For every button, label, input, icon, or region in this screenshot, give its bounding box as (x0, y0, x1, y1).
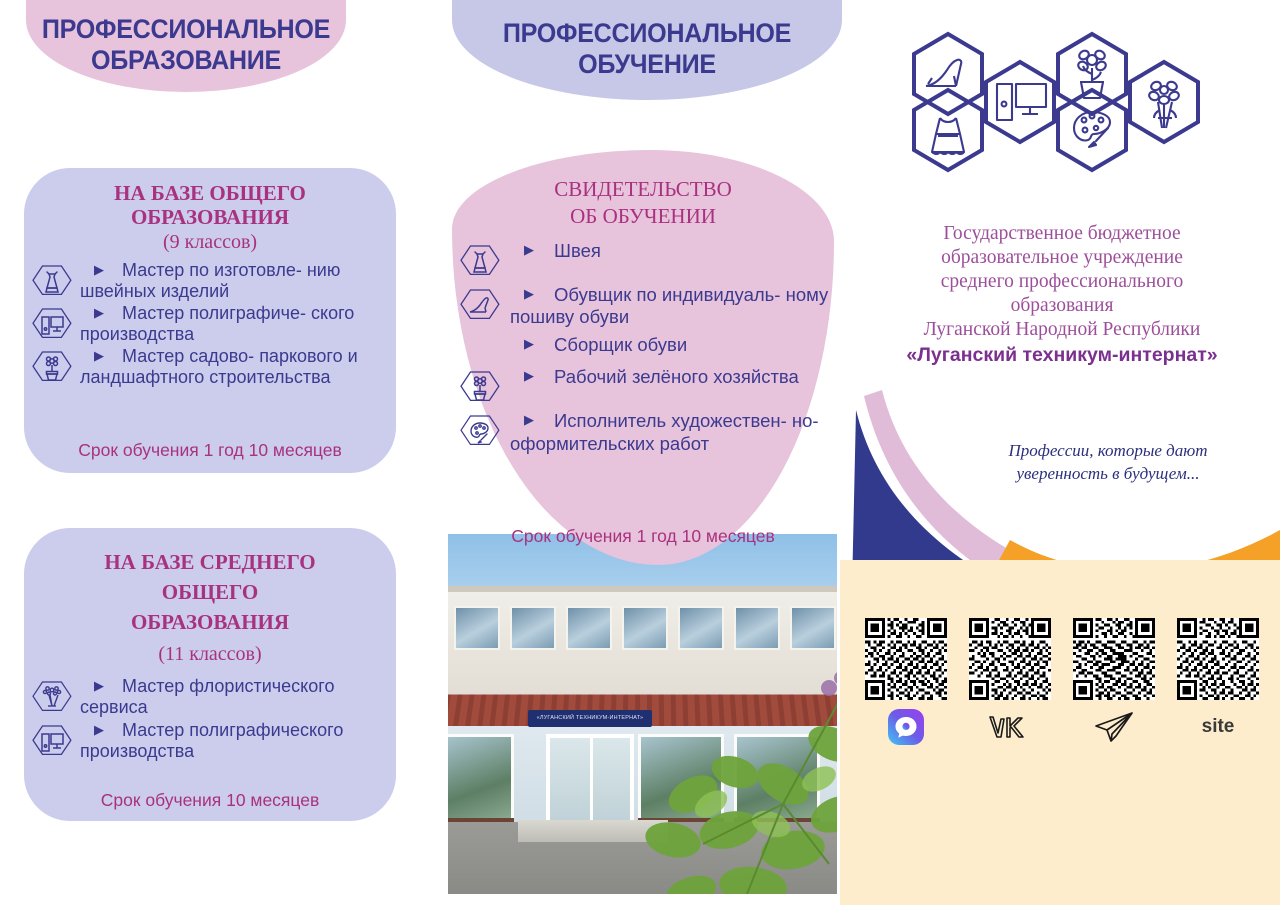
qr-label-vk (966, 706, 1054, 748)
qr-code-sferum[interactable] (865, 618, 947, 700)
certificate-duration: Срок обучения 1 год 10 месяцев (452, 526, 834, 547)
list-item-text: Сборщик обуви (510, 334, 687, 355)
computer-icon (30, 303, 74, 347)
qr-code-vk[interactable] (969, 618, 1051, 700)
dress-hexagon (914, 90, 982, 170)
palette-icon (458, 410, 502, 454)
list-item-text: Исполнитель художествен- но-оформительск… (510, 410, 819, 453)
program-line1: Мастер садово- (122, 346, 254, 366)
bullet-icon: ▶ (94, 262, 104, 277)
program-line1: Мастер (122, 720, 184, 740)
list-item: ▶ Мастер полиграфиче- ского производства (24, 303, 396, 345)
header-middle-line1: ПРОФЕССИОНАЛЬНОЕ (466, 18, 829, 49)
hexagon-icon-cluster (892, 6, 1280, 186)
sferum-icon (888, 709, 924, 745)
header-professional-training: ПРОФЕССИОНАЛЬНОЕ ОБУЧЕНИЕ (452, 0, 842, 100)
dress-icon (30, 260, 74, 304)
site-text: site (1202, 716, 1235, 738)
header-professional-education: ПРОФЕССИОНАЛЬНОЕ ОБРАЗОВАНИЕ (26, 0, 346, 92)
card-secondary-title-line3: ОБРАЗОВАНИЯ (24, 608, 396, 638)
bullet-icon: ▶ (524, 336, 534, 352)
program-line3: строительства (209, 367, 330, 387)
program-line2: флористического сервиса (80, 676, 334, 717)
computer-icon (30, 720, 74, 764)
column-professional-education: ПРОФЕССИОНАЛЬНОЕ ОБРАЗОВАНИЕ НА БАЗЕ ОБЩ… (0, 0, 440, 905)
bullet-icon: ▶ (524, 368, 534, 384)
list-item: ▶ Швея (452, 240, 834, 278)
building-photo: «ЛУГАНСКИЙ ТЕХНИКУМ-ИНТЕРНАТ» (448, 534, 837, 894)
header-left-line2: ОБРАЗОВАНИЕ (37, 45, 335, 76)
qr-label-sferum (862, 706, 950, 748)
program-line1: Швея (554, 240, 601, 261)
list-item: ▶ Рабочий зелёного хозяйства (452, 366, 834, 404)
qr-cell-vk[interactable] (966, 618, 1054, 748)
bullet-icon: ▶ (94, 722, 104, 737)
list-item-text: Обувщик по индивидуаль- ному пошиву обув… (510, 284, 828, 327)
flowerpot-icon (30, 346, 74, 390)
list-item-text: Мастер полиграфиче- ского производства (80, 303, 396, 345)
header-left-line1: ПРОФЕССИОНАЛЬНОЕ (37, 14, 335, 45)
card-secondary-title-line1: НА БАЗЕ СРЕДНЕГО (24, 548, 396, 578)
list-item: ▶ Обувщик по индивидуаль- ному пошиву об… (452, 284, 834, 328)
card-secondary-duration: Срок обучения 10 месяцев (24, 790, 396, 811)
list-item: ▶ Мастер по изготовле- нию швейных издел… (24, 260, 396, 302)
dress-icon (458, 240, 502, 284)
bullet-icon: ▶ (94, 348, 104, 363)
list-item: ▶ Исполнитель художествен- но-оформитель… (452, 410, 834, 454)
telegram-icon (1092, 710, 1136, 744)
column-organization-info: Государственное бюджетное образовательно… (840, 0, 1280, 905)
header-title-middle: ПРОФЕССИОНАЛЬНОЕ ОБУЧЕНИЕ (466, 18, 829, 81)
card-general-subtitle: (9 классов) (24, 231, 396, 254)
list-item: ▶ Мастер полиграфического производства (24, 720, 396, 762)
bullet-icon: ▶ (524, 286, 534, 302)
qr-code-row: site (862, 618, 1262, 748)
org-line2: образовательное учреждение (852, 246, 1272, 270)
program-line1: Исполнитель художествен- (554, 410, 787, 431)
card-general-education: НА БАЗЕ ОБЩЕГО ОБРАЗОВАНИЯ (9 классов) ▶ (24, 168, 396, 473)
qr-label-site: site (1174, 706, 1262, 748)
certificate-program-list: ▶ Швея ▶ Обувщик по и (452, 240, 834, 461)
qr-cell-site[interactable]: site (1174, 618, 1262, 748)
list-item: ▶ Мастер садово- паркового и ландшафтног… (24, 346, 396, 388)
certificate-title-line2: ОБ ОБУЧЕНИИ (452, 203, 834, 230)
program-line1: Сборщик обуви (554, 334, 687, 355)
list-item-text: Мастер садово- паркового и ландшафтного … (80, 346, 396, 388)
card-general-title-line1: НА БАЗЕ ОБЩЕГО (24, 182, 396, 206)
header-middle-line2: ОБУЧЕНИЕ (466, 49, 829, 80)
card-secondary-program-list: ▶ Мастер флористического сервиса (24, 676, 396, 761)
palette-hexagon (1058, 90, 1126, 170)
program-line1: Мастер полиграфиче- (122, 303, 306, 323)
card-certificate-training: СВИДЕТЕЛЬСТВО ОБ ОБУЧЕНИИ ▶ Швея (452, 150, 834, 565)
card-general-duration: Срок обучения 1 год 10 месяцев (24, 440, 396, 461)
brochure-page: ПРОФЕССИОНАЛЬНОЕ ОБРАЗОВАНИЕ НА БАЗЕ ОБЩ… (0, 0, 1280, 905)
program-line2: полиграфического (189, 720, 343, 740)
qr-code-site[interactable] (1177, 618, 1259, 700)
org-institution-name: «Луганский техникум-интернат» (852, 344, 1272, 368)
card-secondary-subtitle: (11 классов) (24, 643, 396, 666)
card-general-title-line2: ОБРАЗОВАНИЯ (24, 206, 396, 230)
org-line5: Луганской Народной Республики (852, 318, 1272, 342)
qr-cell-telegram[interactable] (1070, 618, 1158, 748)
bullet-icon: ▶ (94, 678, 104, 693)
list-item-text: Рабочий зелёного хозяйства (510, 366, 799, 387)
program-line1: Рабочий зелёного (554, 366, 708, 387)
bullet-icon: ▶ (94, 305, 104, 320)
list-item: ▶ Мастер флористического сервиса (24, 676, 396, 718)
certificate-title-line1: СВИДЕТЕЛЬСТВО (452, 176, 834, 203)
org-line3: среднего профессионального (852, 270, 1272, 294)
photo-foliage (633, 654, 837, 894)
card-secondary-education: НА БАЗЕ СРЕДНЕГО ОБЩЕГО ОБРАЗОВАНИЯ (11 … (24, 528, 396, 821)
vk-icon (987, 712, 1033, 742)
slogan: Профессии, которые дают уверенность в бу… (958, 440, 1258, 486)
card-general-program-list: ▶ Мастер по изготовле- нию швейных издел… (24, 260, 396, 388)
qr-label-telegram (1070, 706, 1158, 748)
list-item-text: Мастер флористического сервиса (80, 676, 396, 718)
header-title-left: ПРОФЕССИОНАЛЬНОЕ ОБРАЗОВАНИЕ (37, 14, 335, 77)
org-line1: Государственное бюджетное (852, 222, 1272, 246)
list-item: ▶ Сборщик обуви (452, 334, 834, 360)
shoe-icon (458, 284, 502, 328)
qr-cell-sferum[interactable] (862, 618, 950, 748)
program-line2: хозяйства (713, 366, 799, 387)
organization-name: Государственное бюджетное образовательно… (852, 222, 1272, 368)
slogan-line1: Профессии, которые дают (958, 440, 1258, 463)
program-line1: Мастер (122, 676, 184, 696)
bouquet-hexagon (1130, 62, 1198, 142)
card-secondary-title: НА БАЗЕ СРЕДНЕГО ОБЩЕГО ОБРАЗОВАНИЯ (24, 528, 396, 637)
card-secondary-title-line2: ОБЩЕГО (24, 578, 396, 608)
flowerpot-icon (458, 366, 502, 410)
list-item-text: Мастер полиграфического производства (80, 720, 396, 762)
program-line1: Обувщик по индивидуаль- (554, 284, 780, 305)
bouquet-icon (30, 676, 74, 720)
photo-window-row (448, 606, 837, 650)
card-general-title: НА БАЗЕ ОБЩЕГО ОБРАЗОВАНИЯ (24, 168, 396, 229)
slogan-line2: уверенность в будущем... (958, 463, 1258, 486)
list-item-text: Мастер по изготовле- нию швейных изделий (80, 260, 396, 302)
certificate-title: СВИДЕТЕЛЬСТВО ОБ ОБУЧЕНИИ (452, 176, 834, 230)
bullet-icon: ▶ (524, 242, 534, 258)
program-line3: производства (80, 741, 194, 761)
bullet-icon: ▶ (524, 412, 534, 428)
qr-code-telegram[interactable] (1073, 618, 1155, 700)
program-line1: Мастер по изготовле- (122, 260, 302, 280)
org-line4: образования (852, 294, 1272, 318)
